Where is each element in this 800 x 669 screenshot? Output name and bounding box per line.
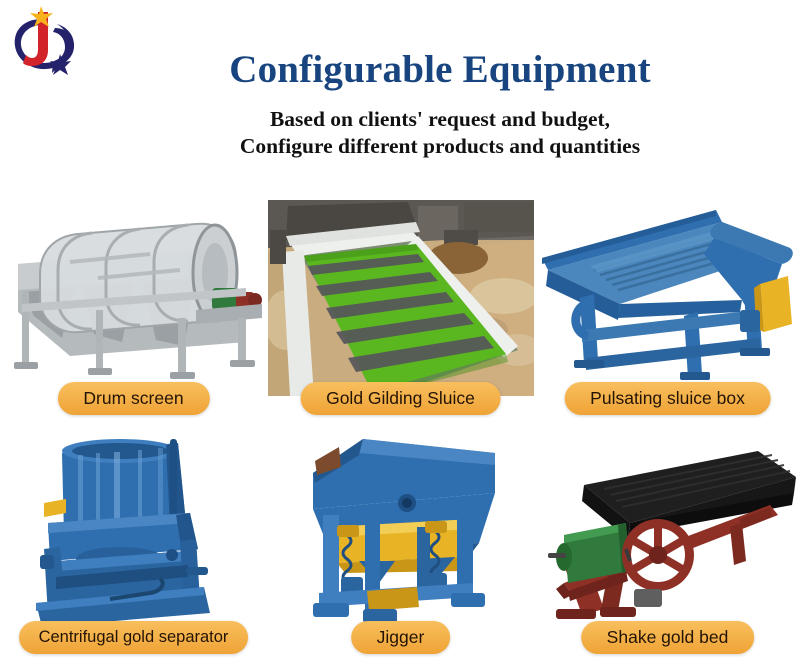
product-card-gold-gilding-sluice[interactable]: Gold Gilding Sluice [267,192,534,430]
title-block: Configurable Equipment Based on clients'… [120,50,760,161]
product-image-shake-gold-bed [534,431,800,631]
product-label-drum-screen[interactable]: Drum screen [57,382,209,415]
product-card-jigger[interactable]: Jigger [267,431,534,669]
page-subtitle: Based on clients' request and budget, Co… [120,106,760,161]
page-title: Configurable Equipment [120,50,760,91]
subtitle-line-1: Based on clients' request and budget, [120,106,760,134]
product-card-shake-gold-bed[interactable]: Shake gold bed [534,431,800,669]
product-image-gold-gilding-sluice [268,200,534,396]
product-label-centrifugal-gold-separator[interactable]: Centrifugal gold separator [19,621,249,654]
page-header: Configurable Equipment Based on clients'… [0,0,800,190]
jxsc-logo [8,4,86,84]
product-card-pulsating-sluice-box[interactable]: Pulsating sluice box [534,192,800,430]
product-card-centrifugal-gold-separator[interactable]: Centrifugal gold separator [0,431,267,669]
product-label-gold-gilding-sluice[interactable]: Gold Gilding Sluice [300,382,501,415]
product-image-pulsating-sluice-box [534,192,800,392]
product-card-drum-screen[interactable]: Drum screen [0,192,267,430]
product-label-jigger[interactable]: Jigger [351,621,451,654]
product-image-drum-screen [0,192,267,392]
subtitle-line-2: Configure different products and quantit… [120,133,760,161]
product-image-centrifugal-gold-separator [0,431,267,631]
product-image-jigger [267,431,534,631]
product-label-pulsating-sluice-box[interactable]: Pulsating sluice box [564,382,771,415]
product-grid: Drum screen [0,192,800,669]
product-label-shake-gold-bed[interactable]: Shake gold bed [581,621,755,654]
